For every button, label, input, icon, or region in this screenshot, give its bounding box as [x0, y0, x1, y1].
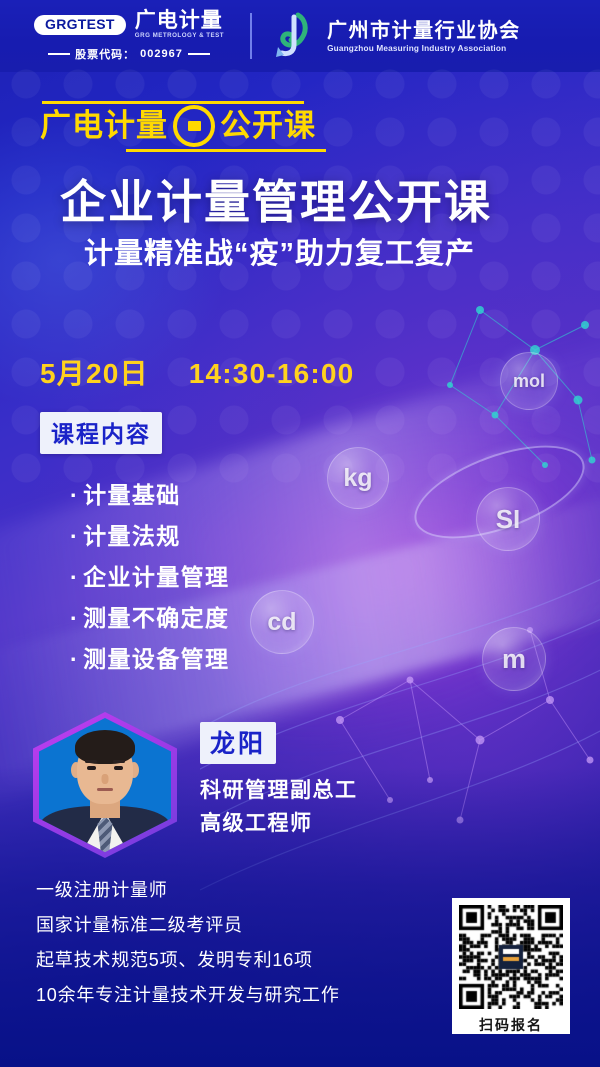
bullet-icon: · — [70, 484, 79, 507]
unit-bubble-m: m — [482, 627, 546, 691]
bullet-icon: · — [70, 648, 79, 671]
rule-right — [188, 53, 210, 55]
list-item: ·测量不确定度 — [70, 607, 370, 630]
vertical-divider — [250, 13, 252, 59]
speaker-titles: 科研管理副总工 高级工程师 — [200, 775, 358, 840]
association-logo-group: 广州市计量行业协会 Guangzhou Measuring Industry A… — [272, 11, 521, 61]
association-name-en: Guangzhou Measuring Industry Association — [327, 44, 521, 53]
bullet-icon: · — [70, 525, 79, 548]
poster-header: GRGTEST 广电计量 GRG METROLOGY & TEST 股票代码： … — [0, 0, 600, 72]
page-subtitle: 计量精准战“疫”助力复工复产 — [84, 238, 564, 271]
brand-name-en: GRG METROLOGY & TEST — [135, 33, 224, 39]
speaker-name: 龙阳 — [200, 722, 276, 764]
badge-bottom-rule — [126, 149, 326, 152]
grg-logo-group: GRGTEST 广电计量 GRG METROLOGY & TEST 股票代码： … — [34, 10, 224, 61]
association-name-cn: 广州市计量行业协会 — [327, 20, 521, 42]
unit-bubble-label: kg — [343, 464, 372, 493]
unit-bubble-label: m — [502, 644, 526, 675]
credential-line: 国家计量标准二级考评员 — [36, 908, 340, 943]
event-time: 14:30-16:00 — [189, 358, 355, 389]
course-item-label: 测量设备管理 — [83, 648, 229, 671]
bullet-icon: · — [70, 566, 79, 589]
qr-code-icon[interactable] — [459, 905, 563, 1009]
credential-line: 10余年专注计量技术开发与研究工作 — [36, 978, 340, 1013]
credential-line: 起草技术规范5项、发明专利16项 — [36, 943, 340, 978]
event-datetime: 5月20日 14:30-16:00 — [40, 352, 354, 392]
course-item-label: 企业计量管理 — [83, 566, 229, 589]
list-item: ·测量设备管理 — [70, 648, 370, 671]
speaker-portrait — [39, 718, 171, 852]
unit-bubble-label: cd — [267, 608, 296, 637]
speaker-photo-frame — [33, 712, 177, 858]
course-item-label: 计量法规 — [83, 525, 181, 548]
unit-bubble-cd: cd — [250, 590, 314, 654]
brand-name-cn: 广电计量 — [135, 10, 224, 31]
unit-bubble-kg: kg — [327, 447, 389, 509]
unit-bubble-mol: mol — [500, 352, 558, 410]
poster-root: GRGTEST 广电计量 GRG METROLOGY & TEST 股票代码： … — [0, 0, 600, 1067]
qr-caption: 扫码报名 — [459, 1015, 563, 1035]
course-item-label: 测量不确定度 — [83, 607, 229, 630]
course-item-list: ·计量基础 ·计量法规 ·企业计量管理 ·测量不确定度 ·测量设备管理 — [30, 484, 370, 689]
badge-top-rule — [42, 101, 304, 104]
course-content-label: 课程内容 — [40, 412, 162, 454]
speaker-title-line: 高级工程师 — [200, 808, 358, 841]
video-camera-icon — [173, 105, 215, 147]
unit-bubble-label: mol — [513, 371, 545, 392]
list-item: ·计量法规 — [70, 525, 370, 548]
qr-registration-card[interactable]: 扫码报名 — [452, 898, 570, 1034]
hexagon-border — [33, 712, 177, 858]
badge-right-text: 公开课 — [220, 111, 316, 142]
unit-bubble-label: SI — [496, 504, 521, 535]
stock-code: 002967 — [140, 48, 183, 60]
grgtest-pill: GRGTEST — [34, 15, 126, 36]
bullet-icon: · — [70, 607, 79, 630]
page-title: 企业计量管理公开课 — [60, 178, 560, 228]
unit-bubble-si: SI — [476, 487, 540, 551]
stock-label: 股票代码： — [75, 46, 135, 62]
open-class-badge: 广电计量 公开课 — [40, 104, 316, 148]
rule-left — [48, 53, 70, 55]
stock-code-line: 股票代码： 002967 — [48, 46, 210, 62]
credential-line: 一级注册计量师 — [36, 873, 340, 908]
speaker-title-line: 科研管理副总工 — [200, 775, 358, 808]
event-date: 5月20日 — [40, 358, 149, 389]
badge-left-text: 广电计量 — [40, 111, 168, 142]
list-item: ·计量基础 — [70, 484, 370, 507]
gma-logo-icon — [272, 11, 316, 61]
course-item-label: 计量基础 — [83, 484, 181, 507]
speaker-credentials: 一级注册计量师 国家计量标准二级考评员 起草技术规范5项、发明专利16项 10余… — [36, 873, 340, 1013]
list-item: ·企业计量管理 — [70, 566, 370, 589]
